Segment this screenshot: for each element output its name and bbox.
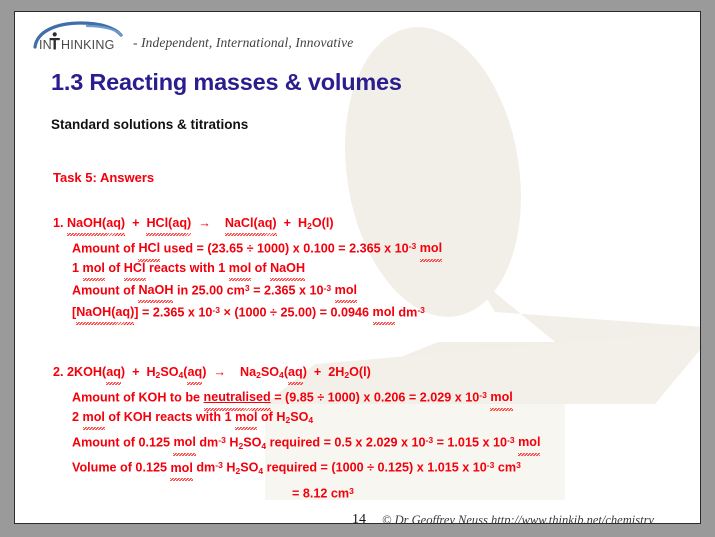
answer-1-number: 1. — [53, 216, 64, 230]
svg-text:HINKING: HINKING — [61, 38, 115, 52]
task-heading: Task 5: Answers — [53, 170, 154, 185]
footer-url[interactable]: http://www.thinkib.net/chemistry — [491, 513, 654, 524]
logo-tagline: - Independent, International, Innovative — [127, 35, 353, 55]
answer-2-line-5: = 8.12 cm3 — [53, 482, 540, 504]
answer-2-line-2: 2 mol of KOH reacts with 1 mol of H2SO4 — [53, 408, 540, 431]
answer-block-1: 1. NaOH(aq) + HCl(aq) → NaCl(aq) + H2O(l… — [53, 214, 442, 323]
slide-title: 1.3 Reacting masses & volumes — [51, 69, 402, 96]
answer-2-equation: 2. 2KOH(aq) + H2SO4(aq) → Na2SO4(aq) + 2… — [53, 363, 540, 386]
answer-2-number: 2. — [53, 365, 64, 379]
answer-1-line-1: Amount of HCl used = (23.65 ÷ 1000) x 0.… — [53, 237, 442, 259]
copyright-icon: © — [382, 513, 392, 524]
answer-1-line-2: 1 mol of HCl reacts with 1 mol of NaOH — [53, 259, 442, 279]
slide-surface: IN HINKING - Independent, International,… — [14, 11, 701, 524]
answer-2-line-1: Amount of KOH to be neutralised = (9.85 … — [53, 386, 540, 408]
answer-1-equation: 1. NaOH(aq) + HCl(aq) → NaCl(aq) + H2O(l… — [53, 214, 442, 237]
footer-author: Dr Geoffrey Neuss — [395, 513, 488, 524]
slide-subtitle: Standard solutions & titrations — [51, 117, 248, 132]
footer-credit: © Dr Geoffrey Neuss http://www.thinkib.n… — [382, 513, 654, 524]
brand-logo: IN HINKING - Independent, International,… — [31, 19, 353, 55]
slide-canvas: IN HINKING - Independent, International,… — [0, 0, 715, 537]
answer-2-line-3: Amount of 0.125 mol dm-3 H2SO4 required … — [53, 431, 540, 456]
inthinking-logo-icon: IN HINKING — [31, 21, 127, 55]
answer-block-2: 2. 2KOH(aq) + H2SO4(aq) → Na2SO4(aq) + 2… — [53, 363, 540, 504]
answer-1-line-4: [NaOH(aq)] = 2.365 x 10-3 × (1000 ÷ 25.0… — [53, 301, 442, 323]
page-number: 14 — [352, 512, 366, 524]
answer-1-line-3: Amount of NaOH in 25.00 cm3 = 2.365 x 10… — [53, 279, 442, 301]
answer-2-line-4: Volume of 0.125 mol dm-3 H2SO4 required … — [53, 456, 540, 481]
